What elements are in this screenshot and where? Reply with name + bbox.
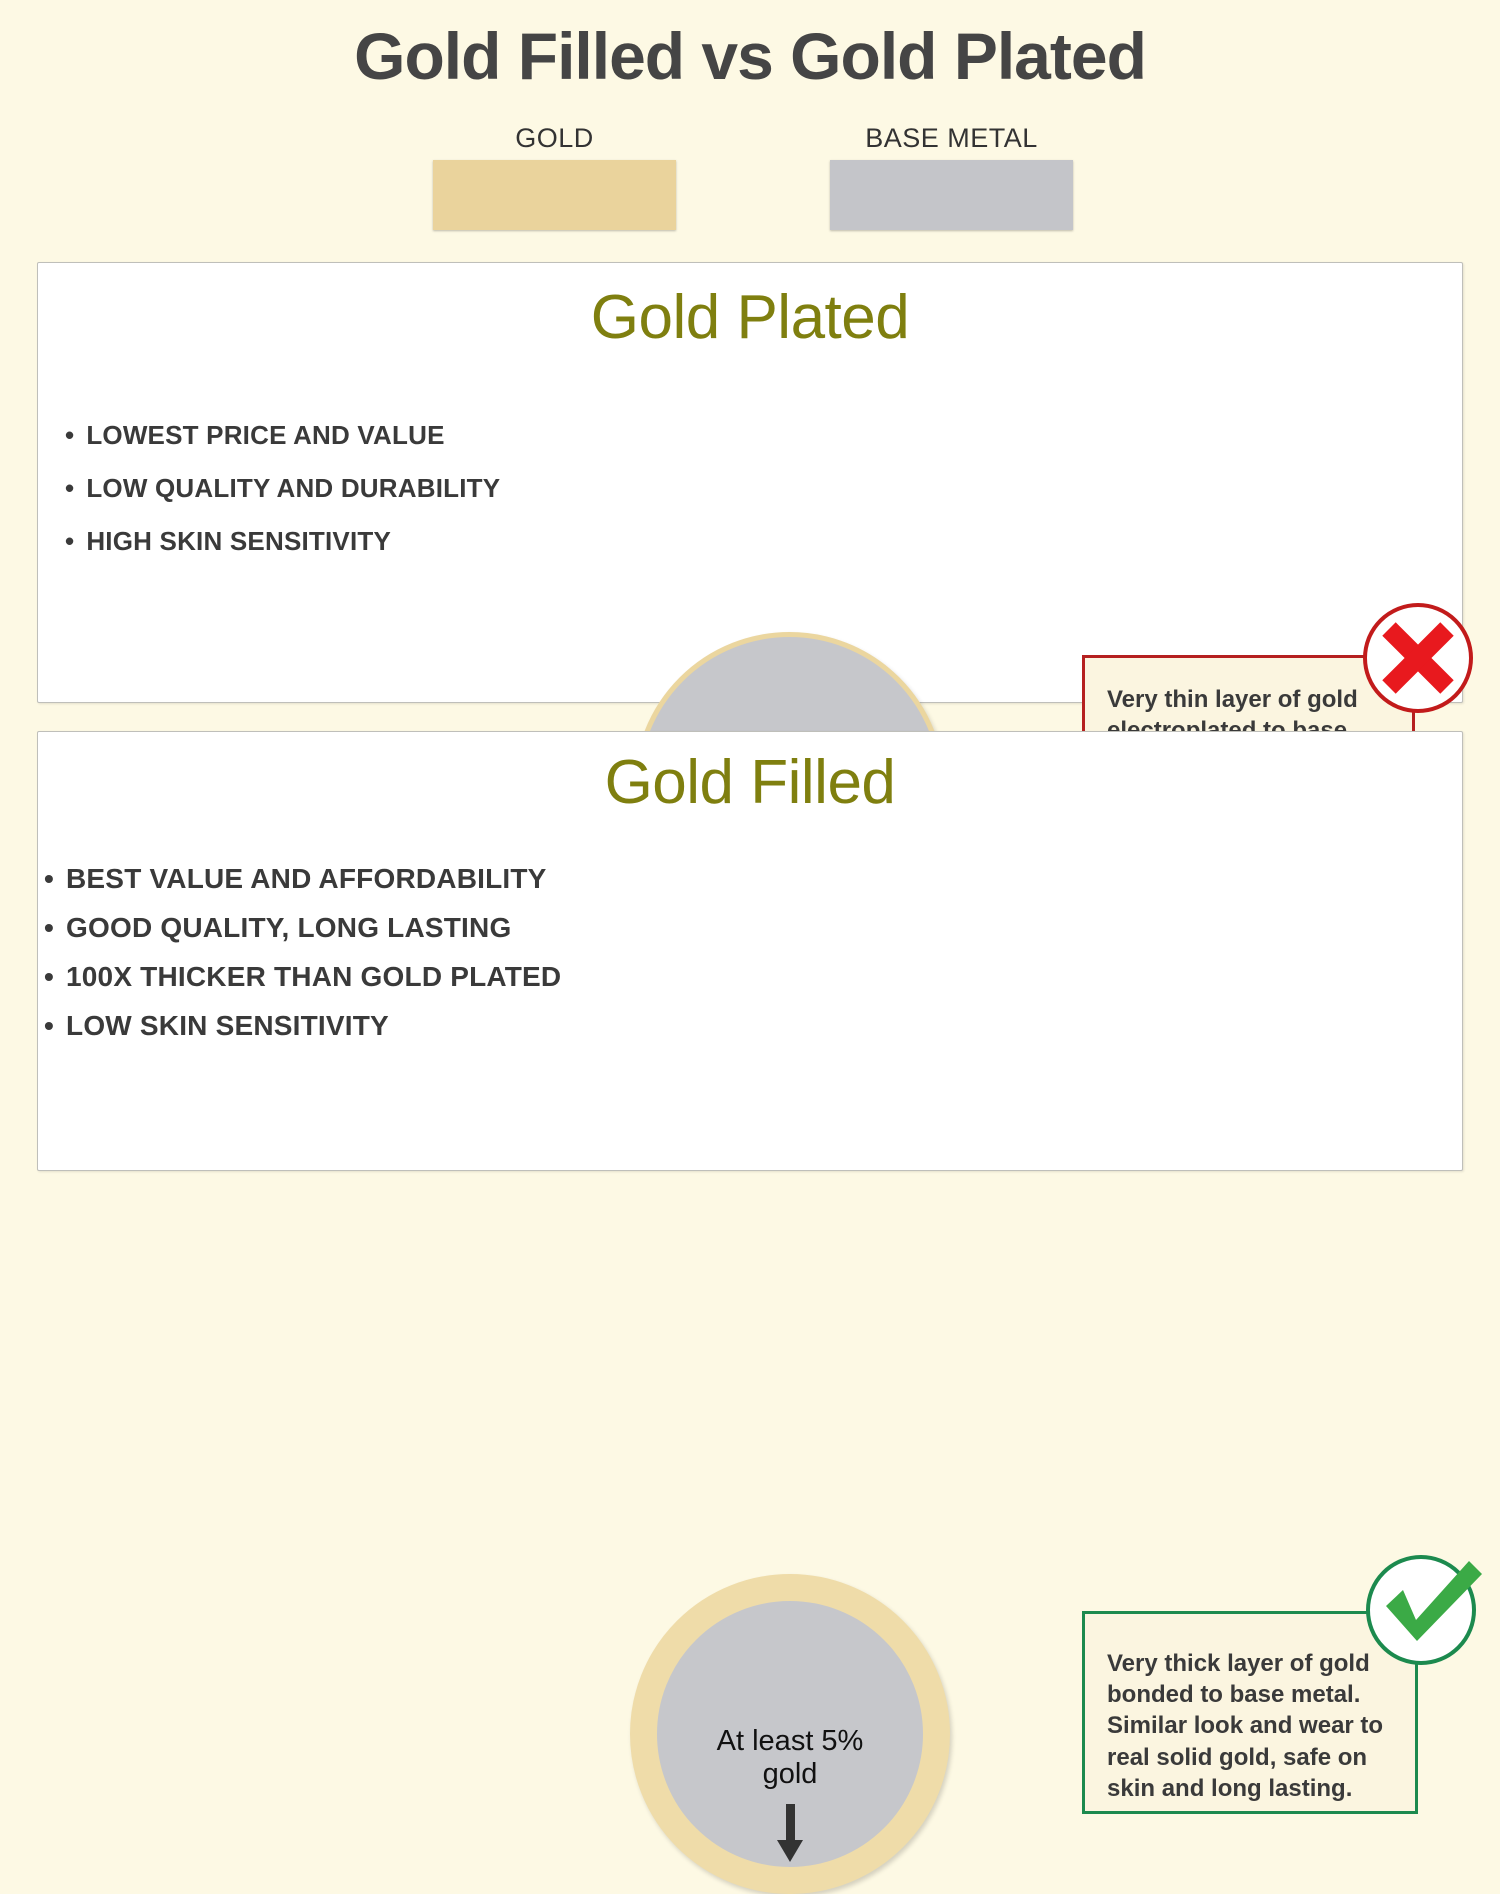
bullet-list-gold-plated: LOWEST PRICE AND VALUE LOW QUALITY AND D…: [65, 420, 500, 579]
bullet-list-gold-filled: BEST VALUE AND AFFORDABILITY GOOD QUALIT…: [44, 863, 561, 1059]
down-arrow-icon: [775, 1804, 805, 1869]
legend-swatch-gold: [433, 160, 676, 230]
legend-label-base-metal: BASE METAL: [830, 123, 1073, 154]
list-item: GOOD QUALITY, LONG LASTING: [44, 912, 561, 944]
coin-label-gold-filled: At least 5% gold: [657, 1725, 923, 1791]
legend-swatch-base-metal: [830, 160, 1073, 230]
page-title: Gold Filled vs Gold Plated: [0, 22, 1500, 91]
section-heading-gold-filled: Gold Filled: [38, 752, 1462, 814]
panel-gold-filled: Gold Filled BEST VALUE AND AFFORDABILITY…: [37, 731, 1463, 1171]
check-icon: [1358, 1548, 1474, 1664]
list-item: LOWEST PRICE AND VALUE: [65, 420, 500, 451]
list-item: LOW SKIN SENSITIVITY: [44, 1010, 561, 1042]
list-item: 100X THICKER THAN GOLD PLATED: [44, 961, 561, 993]
legend-label-gold: GOLD: [433, 123, 676, 154]
legend-item-base-metal: BASE METAL: [830, 123, 1073, 230]
cross-icon: [1360, 600, 1476, 716]
coin-diagram-gold-filled: At least 5% gold: [630, 1574, 950, 1894]
list-item: LOW QUALITY AND DURABILITY: [65, 473, 500, 504]
panel-gold-plated: Gold Plated LOWEST PRICE AND VALUE LOW Q…: [37, 262, 1463, 703]
list-item: BEST VALUE AND AFFORDABILITY: [44, 863, 561, 895]
section-heading-gold-plated: Gold Plated: [38, 287, 1462, 349]
legend-item-gold: GOLD: [433, 123, 676, 230]
list-item: HIGH SKIN SENSITIVITY: [65, 526, 500, 557]
